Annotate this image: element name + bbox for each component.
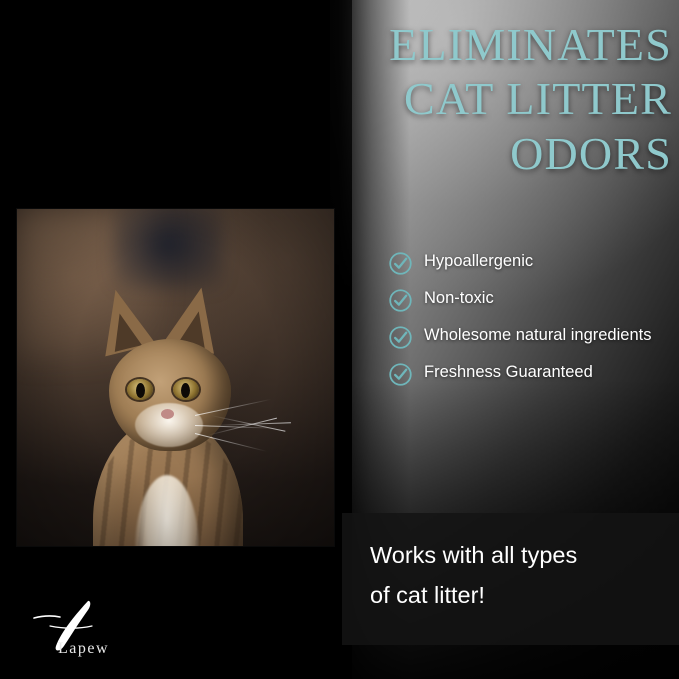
- photo-kitten: [69, 247, 279, 546]
- headline: ELIMINATES CAT LITTER ODORS: [300, 18, 672, 181]
- check-circle-icon: [388, 362, 413, 387]
- brand-logo: Lapew: [30, 598, 160, 660]
- feature-list: Hypoallergenic Non-toxic Wholesome natur…: [388, 250, 668, 398]
- check-circle-icon: [388, 325, 413, 350]
- brand-name: Lapew: [58, 640, 109, 658]
- kitten-pupil-left: [136, 383, 145, 398]
- feature-label: Hypoallergenic: [424, 250, 533, 273]
- kitten-photo: [17, 209, 334, 546]
- headline-line-3: ODORS: [300, 127, 672, 181]
- advertisement-image: ELIMINATES CAT LITTER ODORS: [0, 0, 679, 679]
- feature-label: Wholesome natural ingredients: [424, 324, 651, 347]
- feature-item: Hypoallergenic: [388, 250, 668, 276]
- feature-label: Non-toxic: [424, 287, 494, 310]
- callout-line-1: Works with all types: [370, 535, 660, 575]
- callout-text: Works with all types of cat litter!: [370, 535, 660, 616]
- kitten-nose: [161, 409, 174, 419]
- kitten-pupil-right: [181, 383, 190, 398]
- feature-item: Freshness Guaranteed: [388, 361, 668, 387]
- headline-line-2: CAT LITTER: [300, 72, 672, 126]
- check-circle-icon: [388, 288, 413, 313]
- check-circle-icon: [388, 251, 413, 276]
- feature-item: Non-toxic: [388, 287, 668, 313]
- feature-item: Wholesome natural ingredients: [388, 324, 668, 350]
- feature-label: Freshness Guaranteed: [424, 361, 593, 384]
- callout-panel: Works with all types of cat litter!: [342, 513, 679, 645]
- headline-line-1: ELIMINATES: [300, 18, 672, 72]
- callout-line-2: of cat litter!: [370, 575, 660, 615]
